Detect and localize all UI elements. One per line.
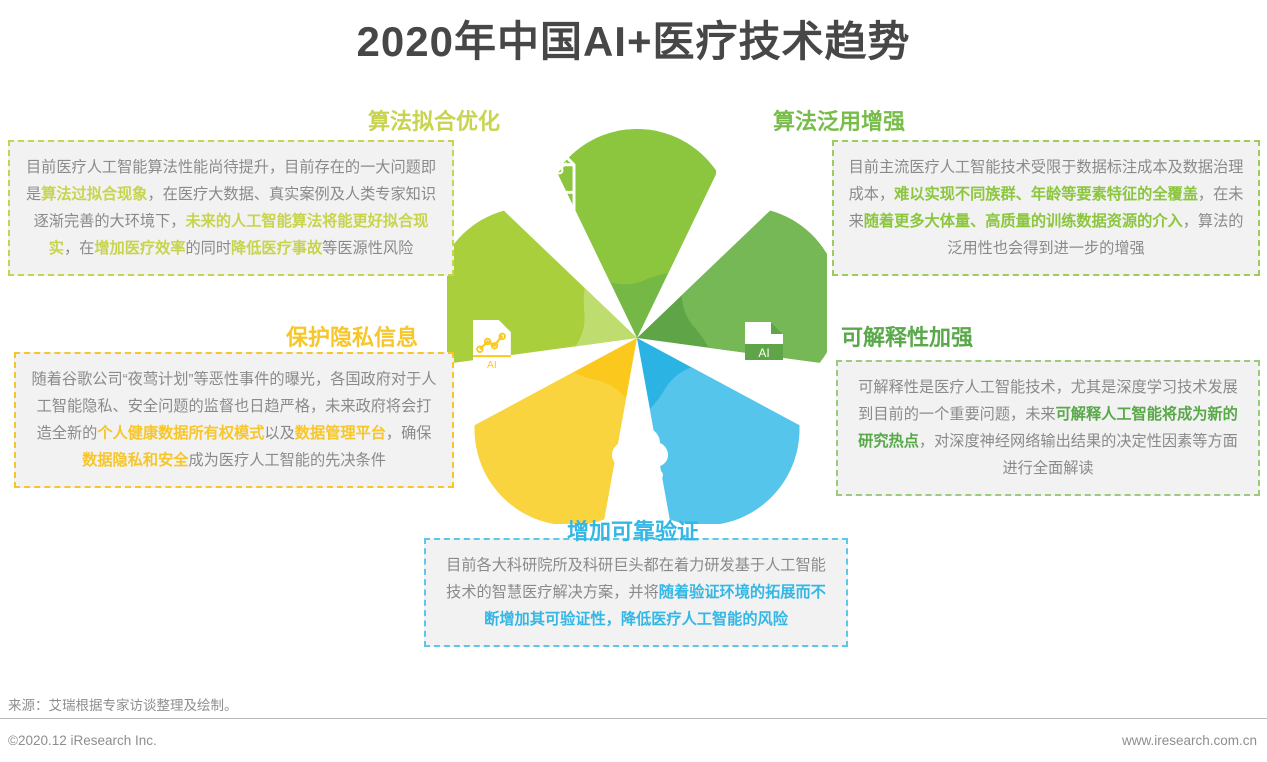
body-text: 等医源性风险 bbox=[322, 240, 413, 257]
text-box-algorithm-fit: 目前医疗人工智能算法性能尚待提升，目前存在的一大问题即是算法过拟合现象，在医疗大… bbox=[8, 140, 454, 276]
text-box-explainability: 可解释性是医疗人工智能技术，尤其是深度学习技术发展到目前的一个重要问题，未来可解… bbox=[836, 360, 1260, 496]
section-heading-reliable-validation: 增加可靠验证 bbox=[567, 518, 699, 546]
body-text: ，确保 bbox=[386, 425, 432, 442]
footer-divider bbox=[0, 718, 1267, 719]
highlighted-text: 难以实现不同族群、年龄等要素特征的全覆盖 bbox=[894, 186, 1198, 203]
ai-document-icon: AI bbox=[745, 322, 783, 376]
text-box-reliable-validation: 目前各大科研院所及科研巨头都在着力研发基于人工智能技术的智慧医疗解决方案，并将随… bbox=[424, 538, 848, 647]
highlighted-text: 个人健康数据所有权模式 bbox=[97, 425, 264, 442]
section-heading-algorithm-fit: 算法拟合优化 bbox=[368, 108, 500, 136]
svg-text:AI: AI bbox=[758, 346, 769, 360]
highlighted-text: 增加医疗效率 bbox=[94, 240, 185, 257]
body-text: 成为医疗人工智能的先决条件 bbox=[188, 452, 385, 469]
body-text: ，对深度神经网络输出结果的决定性因素等方面进行全面解读 bbox=[919, 433, 1238, 477]
text-box-algorithm-generalize: 目前主流医疗人工智能技术受限于数据标注成本及数据治理成本，难以实现不同族群、年龄… bbox=[832, 140, 1260, 276]
highlighted-text: 数据隐私和安全 bbox=[82, 452, 188, 469]
body-text: 以及 bbox=[264, 425, 294, 442]
highlighted-text: 降低医疗事故 bbox=[231, 240, 322, 257]
section-heading-privacy-protection: 保护隐私信息 bbox=[286, 324, 418, 352]
highlighted-text: 数据管理平台 bbox=[295, 425, 386, 442]
body-text: 的同时 bbox=[185, 240, 231, 257]
ai-document-graph-icon-left: AI bbox=[473, 320, 511, 373]
infographic-page: 2020年中国AI+医疗技术趋势 算法拟合优化 算法泛用增强 保护隐私信息 可解… bbox=[0, 0, 1267, 762]
section-heading-algorithm-generalize: 算法泛用增强 bbox=[773, 108, 905, 136]
page-title: 2020年中国AI+医疗技术趋势 bbox=[0, 14, 1267, 70]
source-note: 来源：艾瑞根据专家访谈整理及绘制。 bbox=[8, 694, 238, 714]
text-box-privacy-protection: 随着谷歌公司“夜莺计划”等恶性事件的曝光，各国政府对于人工智能隐私、安全问题的监… bbox=[14, 352, 454, 488]
svg-text:AI: AI bbox=[487, 360, 497, 371]
body-text: ，在 bbox=[64, 240, 94, 257]
highlighted-text: 算法过拟合现象 bbox=[41, 186, 147, 203]
website-url: www.iresearch.com.cn bbox=[1122, 733, 1257, 748]
section-heading-explainability: 可解释性加强 bbox=[841, 324, 973, 352]
five-petal-flower-diagram: AI bbox=[447, 124, 827, 524]
svg-text:AI: AI bbox=[546, 195, 557, 209]
highlighted-text: 随着更多大体量、高质量的训练数据资源的介入 bbox=[864, 213, 1183, 230]
copyright-text: ©2020.12 iResearch Inc. bbox=[8, 733, 157, 748]
